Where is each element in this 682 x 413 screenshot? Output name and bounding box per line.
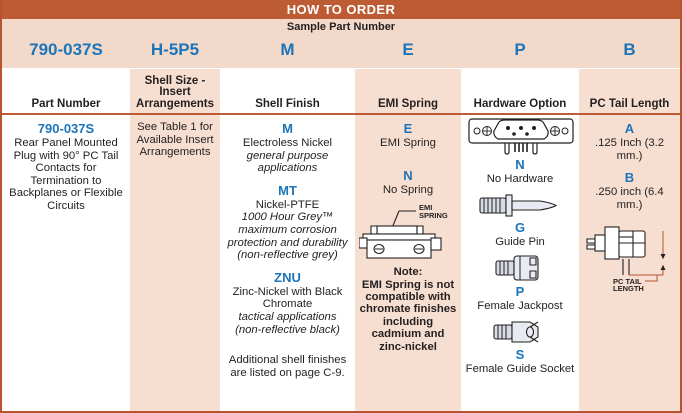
hardware-code-n: N <box>465 157 575 173</box>
shell-finish-code-mt: MT <box>224 183 351 199</box>
female-jackpost-diagram <box>465 252 575 284</box>
shell-finish-detail-mt: 1000 Hour Grey™ maximum corrosion protec… <box>224 211 351 261</box>
emi-spring-note-title: Note: <box>359 266 457 278</box>
sample-code-hardware-option: P <box>461 35 579 65</box>
hardware-name-p: Female Jackpost <box>465 300 575 313</box>
cell-hardware-option: N No Hardware G Guide Pi <box>461 115 579 411</box>
emi-spring-note: Note: EMI Spring is not compatible with … <box>359 266 457 353</box>
emi-spring-name-n: No Spring <box>359 184 457 197</box>
part-number-code: 790-037S <box>6 121 126 137</box>
emi-spring-code-n: N <box>359 168 457 184</box>
guide-pin-diagram <box>465 190 575 220</box>
emi-spring-diagram: EMI SPRING <box>359 202 457 264</box>
column-header-part-number: Part Number <box>2 69 130 113</box>
shell-finish-name-m: Electroless Nickel <box>224 137 351 150</box>
shell-finish-footnote: Additional shell finishes are listed on … <box>224 354 351 379</box>
column-header-row: Part Number Shell Size - Insert Arrangem… <box>2 69 680 115</box>
sample-code-emi-spring: E <box>355 35 461 65</box>
cell-shell-size: See Table 1 for Available Insert Arrange… <box>130 115 220 411</box>
column-header-emi-spring: EMI Spring <box>355 69 461 113</box>
pc-tail-diagram: PC TAIL LENGTH <box>583 221 676 291</box>
female-guide-socket-diagram <box>465 317 575 347</box>
emi-spring-note-body: EMI Spring is not compatible with chroma… <box>360 279 457 353</box>
table-title-bar: HOW TO ORDER <box>2 0 680 19</box>
column-header-hardware-option: Hardware Option <box>461 69 579 113</box>
shell-finish-code-znu: ZNU <box>224 270 351 286</box>
hardware-name-s: Female Guide Socket <box>465 363 575 376</box>
pc-tail-name-b: .250 inch (6.4 mm.) <box>583 186 676 211</box>
emi-spring-code-e: E <box>359 121 457 137</box>
sample-part-number-codes: 790-037S H-5P5 M E P B <box>2 35 680 68</box>
sample-code-shell-size: H-5P5 <box>130 35 220 65</box>
cell-emi-spring: E EMI Spring N No Spring EMI SPRING <box>355 115 461 411</box>
column-header-pc-tail-length: PC Tail Length <box>579 69 680 113</box>
pc-tail-callout-line2: LENGTH <box>613 284 644 291</box>
pc-tail-code-a: A <box>583 121 676 137</box>
cell-shell-finish: M Electroless Nickel general purpose app… <box>220 115 355 411</box>
hardware-code-s: S <box>465 347 575 363</box>
sample-code-part-number: 790-037S <box>2 35 130 65</box>
emi-spring-callout-line2: SPRING <box>419 211 448 220</box>
shell-finish-name-znu: Zinc-Nickel with Black Chromate <box>224 286 351 311</box>
sample-part-number-label: Sample Part Number <box>2 19 680 35</box>
column-body-row: 790-037S Rear Panel Mounted Plug with 90… <box>2 115 680 411</box>
column-header-shell-finish: Shell Finish <box>220 69 355 113</box>
sample-code-shell-finish: M <box>220 35 355 65</box>
shell-finish-detail-znu: tactical applications (non-reflective bl… <box>224 311 351 336</box>
pc-tail-code-b: B <box>583 170 676 186</box>
table-title: HOW TO ORDER <box>287 2 396 17</box>
shell-finish-code-m: M <box>224 121 351 137</box>
part-number-description: Rear Panel Mounted Plug with 90° PC Tail… <box>6 137 126 213</box>
hardware-code-g: G <box>465 220 575 236</box>
hardware-name-n: No Hardware <box>465 173 575 186</box>
hardware-name-g: Guide Pin <box>465 236 575 249</box>
shell-finish-name-mt: Nickel-PTFE <box>224 199 351 212</box>
shell-size-text: See Table 1 for Available Insert Arrange… <box>134 121 216 159</box>
hardware-code-p: P <box>465 284 575 300</box>
cell-part-number: 790-037S Rear Panel Mounted Plug with 90… <box>2 115 130 411</box>
cell-pc-tail-length: A .125 Inch (3.2 mm.) B .250 inch (6.4 m… <box>579 115 680 411</box>
emi-spring-name-e: EMI Spring <box>359 137 457 150</box>
sample-part-number-band: Sample Part Number 790-037S H-5P5 M E P … <box>2 19 680 69</box>
how-to-order-table: HOW TO ORDER Sample Part Number 790-037S… <box>0 0 682 413</box>
shell-finish-detail-m: general purpose applications <box>224 150 351 175</box>
pc-tail-name-a: .125 Inch (3.2 mm.) <box>583 137 676 162</box>
column-header-shell-size: Shell Size - Insert Arrangements <box>130 69 220 113</box>
connector-front-view-diagram <box>465 117 575 157</box>
sample-code-pc-tail-length: B <box>579 35 680 65</box>
